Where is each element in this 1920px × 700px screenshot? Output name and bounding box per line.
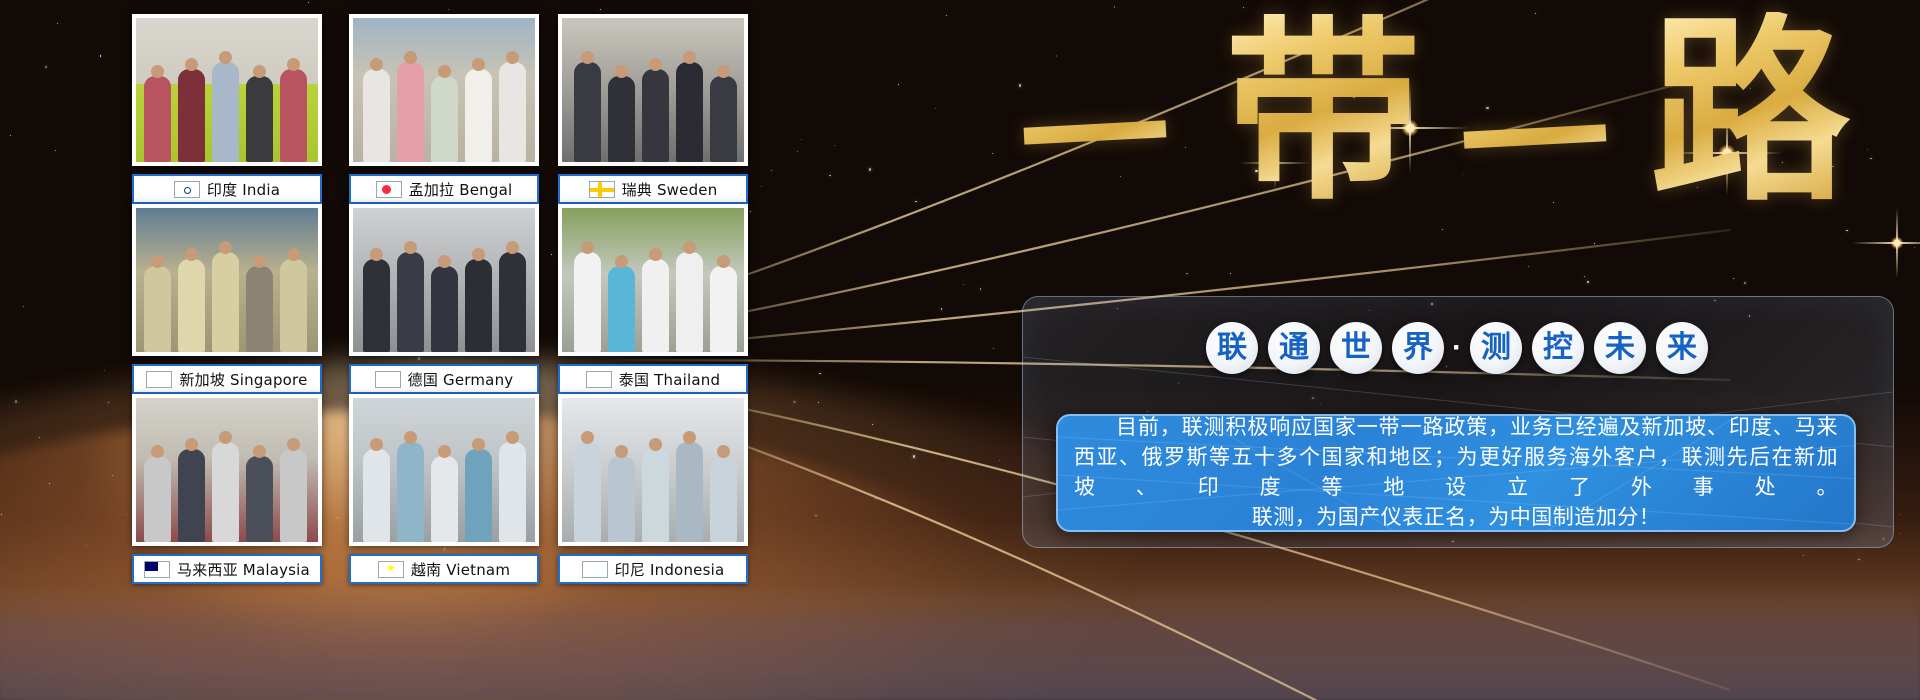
slogan-separator: · bbox=[1452, 331, 1462, 365]
flag-malaysia-icon bbox=[144, 561, 170, 578]
gallery-item[interactable]: 孟加拉 Bengal bbox=[349, 14, 539, 204]
gallery-caption-label: 越南 Vietnam bbox=[411, 559, 510, 580]
gallery-caption-label: 印度 India bbox=[207, 179, 280, 200]
calligraphy-char: 带 bbox=[1225, 14, 1421, 210]
gallery-item[interactable]: 新加坡 Singapore bbox=[132, 204, 322, 394]
gallery-item[interactable]: 印度 India bbox=[132, 14, 322, 204]
gallery-caption-label: 马来西亚 Malaysia bbox=[177, 559, 310, 580]
calligraphy-char: 一 bbox=[1016, 60, 1174, 218]
slogan-char: 通 bbox=[1268, 322, 1320, 374]
gallery-caption: 越南 Vietnam bbox=[349, 554, 539, 584]
description-text: 目前，联测积极响应国家一带一路政策，业务已经遍及新加坡、印度、马来西亚、俄罗斯等… bbox=[1058, 414, 1854, 532]
gallery-caption-label: 孟加拉 Bengal bbox=[409, 179, 513, 200]
gallery-caption: 德国 Germany bbox=[349, 364, 539, 394]
calligraphy-char: 一 bbox=[1456, 64, 1614, 222]
gallery-caption: 印尼 Indonesia bbox=[558, 554, 748, 584]
gallery-caption-label: 德国 Germany bbox=[408, 369, 514, 390]
slogan-row: 联 通 世 界 · 测 控 未 来 bbox=[1022, 312, 1892, 384]
gallery-photo[interactable] bbox=[349, 204, 539, 356]
gallery-photo[interactable] bbox=[132, 204, 322, 356]
gallery-caption-label: 新加坡 Singapore bbox=[179, 369, 307, 390]
belt-and-road-calligraphy: 一 带 一 路 bbox=[1010, 6, 1900, 236]
description-paragraph-2: 联测，为国产仪表正名，为中国制造加分！ bbox=[1074, 503, 1838, 532]
flag-thailand-icon bbox=[586, 371, 612, 388]
gallery-caption-label: 印尼 Indonesia bbox=[615, 559, 725, 580]
flag-indonesia-icon bbox=[582, 561, 608, 578]
slogan-char: 界 bbox=[1392, 322, 1444, 374]
description-paragraph-1: 目前，联测积极响应国家一带一路政策，业务已经遍及新加坡、印度、马来西亚、俄罗斯等… bbox=[1074, 414, 1838, 502]
slogan-char: 联 bbox=[1206, 322, 1258, 374]
flag-bangladesh-icon bbox=[376, 181, 402, 198]
flag-vietnam-icon bbox=[378, 561, 404, 578]
gallery-photo[interactable] bbox=[132, 394, 322, 546]
gallery-caption: 马来西亚 Malaysia bbox=[132, 554, 322, 584]
gallery-photo[interactable] bbox=[132, 14, 322, 166]
gallery-caption-label: 瑞典 Sweden bbox=[622, 179, 718, 200]
gallery-caption: 印度 India bbox=[132, 174, 322, 204]
gallery-photo[interactable] bbox=[558, 14, 748, 166]
slogan-char: 未 bbox=[1594, 322, 1646, 374]
flag-india-icon bbox=[174, 181, 200, 198]
gallery-caption: 瑞典 Sweden bbox=[558, 174, 748, 204]
slogan-char: 来 bbox=[1656, 322, 1708, 374]
gallery-item[interactable]: 泰国 Thailand bbox=[558, 204, 748, 394]
gallery-caption-label: 泰国 Thailand bbox=[619, 369, 720, 390]
gallery-caption: 新加坡 Singapore bbox=[132, 364, 322, 394]
gallery-photo[interactable] bbox=[349, 14, 539, 166]
gallery-caption: 泰国 Thailand bbox=[558, 364, 748, 394]
gallery-item[interactable]: 马来西亚 Malaysia bbox=[132, 394, 322, 584]
gallery-item[interactable]: 印尼 Indonesia bbox=[558, 394, 748, 584]
description-box: 目前，联测积极响应国家一带一路政策，业务已经遍及新加坡、印度、马来西亚、俄罗斯等… bbox=[1056, 414, 1856, 532]
slogan-char: 世 bbox=[1330, 322, 1382, 374]
gallery-caption: 孟加拉 Bengal bbox=[349, 174, 539, 204]
flag-singapore-icon bbox=[146, 371, 172, 388]
photo-gallery-grid: 印度 India孟加拉 Bengal瑞典 Sweden新加坡 Singapore… bbox=[132, 14, 757, 584]
flag-sweden-icon bbox=[589, 181, 615, 198]
gallery-item[interactable]: 越南 Vietnam bbox=[349, 394, 539, 584]
gallery-photo[interactable] bbox=[558, 204, 748, 356]
calligraphy-char: 路 bbox=[1650, 12, 1850, 212]
flag-germany-icon bbox=[375, 371, 401, 388]
gallery-photo[interactable] bbox=[558, 394, 748, 546]
slogan-char: 测 bbox=[1470, 322, 1522, 374]
promotional-banner: 印度 India孟加拉 Bengal瑞典 Sweden新加坡 Singapore… bbox=[0, 0, 1920, 700]
gallery-photo[interactable] bbox=[349, 394, 539, 546]
gallery-item[interactable]: 德国 Germany bbox=[349, 204, 539, 394]
gallery-item[interactable]: 瑞典 Sweden bbox=[558, 14, 748, 204]
slogan-char: 控 bbox=[1532, 322, 1584, 374]
